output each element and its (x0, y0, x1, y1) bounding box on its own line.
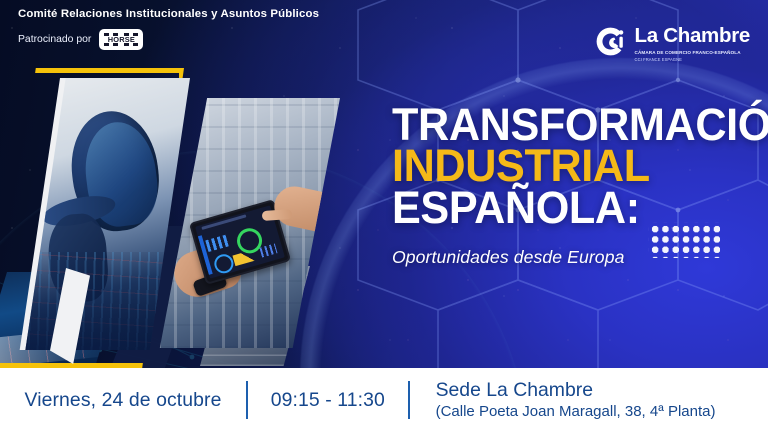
brand-name: La Chambre (635, 26, 750, 47)
committee-title: Comité Relaciones Institucionales y Asun… (18, 8, 319, 20)
event-banner: Comité Relaciones Institucionales y Asun… (0, 0, 768, 432)
image-collage (0, 56, 400, 376)
title-line-1: TRANSFORMACIÓN (392, 104, 768, 145)
la-chambre-logo: La Chambre CÁMARA DE COMERCIO FRANCO-ESP… (594, 24, 750, 62)
venue-name: Sede La Chambre (436, 379, 716, 402)
brand-subtitle-es: CÁMARA DE COMERCIO FRANCO-ESPAÑOLA (635, 51, 750, 56)
horse-logo: HORSE (99, 29, 143, 50)
event-time: 09:15 - 11:30 (248, 389, 408, 412)
title-line-2: INDUSTRIAL (392, 145, 768, 186)
venue-address: (Calle Poeta Joan Maragall, 38, 4ª Plant… (436, 403, 716, 421)
event-date: Viernes, 24 de octubre (0, 389, 246, 412)
sponsor-label: Patrocinado por (18, 34, 91, 45)
footer-bar: Viernes, 24 de octubre 09:15 - 11:30 Sed… (0, 368, 768, 432)
event-location: Sede La Chambre (Calle Poeta Joan Maraga… (410, 379, 716, 421)
title-block: TRANSFORMACIÓN INDUSTRIAL ESPAÑOLA: Opor… (392, 104, 768, 268)
sponsor-row: Patrocinado por HORSE (18, 29, 319, 50)
dot-grid-decoration (648, 222, 720, 258)
collage-photo-tablet (158, 98, 340, 348)
header: Comité Relaciones Institucionales y Asun… (18, 8, 319, 50)
horse-logo-text: HORSE (108, 36, 135, 43)
cci-monogram-icon (594, 25, 628, 59)
brand-subtitle-fr: CCI FRANCE ESPAGNE (635, 58, 750, 62)
